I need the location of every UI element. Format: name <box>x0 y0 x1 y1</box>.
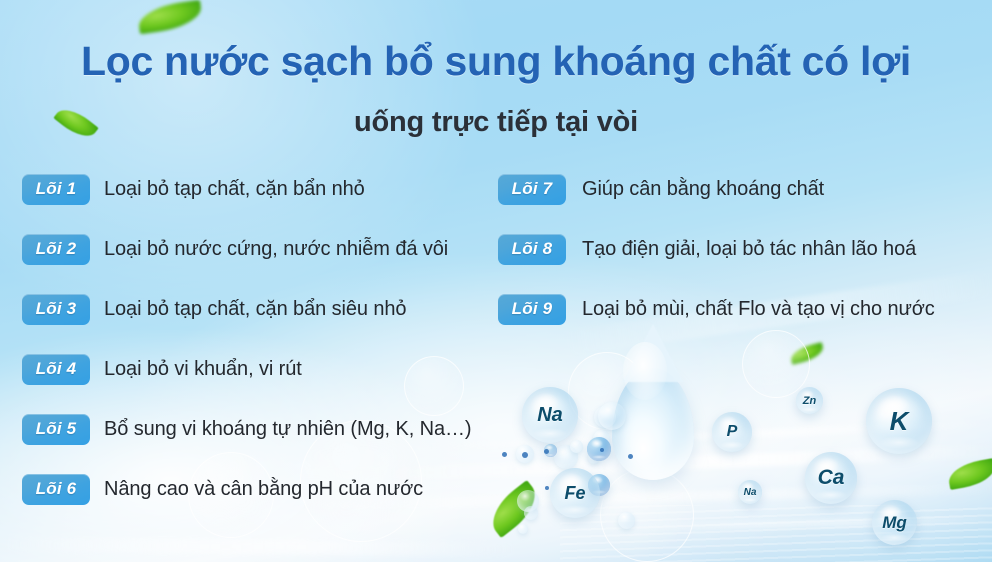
decorative-bubble <box>618 512 635 529</box>
feature-badge: Lõi 6 <box>22 474 90 505</box>
mineral-bubble: Ca <box>805 452 857 504</box>
decorative-bubble <box>594 406 616 428</box>
decorative-dot <box>545 486 549 490</box>
decorative-bubble <box>516 445 534 463</box>
feature-badge: Lõi 4 <box>22 354 90 385</box>
background-streak <box>620 516 992 531</box>
feature-label: Giúp cân bằng khoáng chất <box>582 178 824 201</box>
feature-label: Loại bỏ mùi, chất Flo và tạo vị cho nước <box>582 298 935 321</box>
feature-item[interactable]: Lõi 8Tạo điện giải, loại bỏ tác nhân lão… <box>498 232 978 266</box>
feature-item[interactable]: Lõi 2Loại bỏ nước cứng, nước nhiễm đá vô… <box>22 232 492 266</box>
decorative-dot <box>600 448 604 452</box>
feature-list-right: Lõi 7Giúp cân bằng khoáng chấtLõi 8Tạo đ… <box>498 172 978 352</box>
decorative-bubble <box>593 430 610 447</box>
mineral-label: Fe <box>564 483 585 504</box>
feature-badge: Lõi 8 <box>498 234 566 265</box>
mineral-bubble: Mg <box>872 500 917 545</box>
feature-badge: Lõi 3 <box>22 294 90 325</box>
feature-badge: Lõi 5 <box>22 414 90 445</box>
feature-label: Tạo điện giải, loại bỏ tác nhân lão hoá <box>582 238 916 261</box>
feature-label: Loại bỏ tạp chất, cặn bẩn siêu nhỏ <box>104 298 406 321</box>
feature-item[interactable]: Lõi 9Loại bỏ mùi, chất Flo và tạo vị cho… <box>498 292 978 326</box>
feature-label: Loại bỏ nước cứng, nước nhiễm đá vôi <box>104 238 448 261</box>
feature-list-left: Lõi 1Loại bỏ tạp chất, cặn bẩn nhỏLõi 2L… <box>22 172 492 532</box>
decorative-dot <box>544 449 549 454</box>
feature-item[interactable]: Lõi 4Loại bỏ vi khuẩn, vi rút <box>22 352 492 386</box>
decorative-bubble <box>568 352 646 430</box>
decorative-bubble <box>570 440 583 453</box>
decorative-dot <box>522 452 528 458</box>
decorative-bubble <box>598 402 626 430</box>
decorative-dot <box>628 454 633 459</box>
feature-label: Bổ sung vi khoáng tự nhiên (Mg, K, Na…) <box>104 418 471 441</box>
background-streak <box>430 420 990 450</box>
background-ripple-band <box>560 505 992 562</box>
feature-badge: Lõi 9 <box>498 294 566 325</box>
mineral-label: Na <box>537 404 563 427</box>
decorative-dot <box>502 452 507 457</box>
leaf-icon <box>483 480 546 538</box>
decorative-bubble <box>588 474 610 496</box>
feature-item[interactable]: Lõi 3Loại bỏ tạp chất, cặn bẩn siêu nhỏ <box>22 292 492 326</box>
decorative-bubble <box>587 437 611 461</box>
mineral-label: Mg <box>882 513 907 533</box>
background-streak <box>0 537 520 556</box>
feature-label: Loại bỏ vi khuẩn, vi rút <box>104 358 302 381</box>
decorative-bubble <box>518 524 528 534</box>
feature-label: Nâng cao và cân bằng pH của nước <box>104 478 423 501</box>
mineral-label: Na <box>744 487 757 498</box>
feature-item[interactable]: Lõi 7Giúp cân bằng khoáng chất <box>498 172 978 206</box>
poster-canvas: NaFePNaZnKCaMg Lọc nước sạch bổ sung kho… <box>0 0 992 562</box>
leaf-icon <box>946 458 992 490</box>
feature-badge: Lõi 2 <box>22 234 90 265</box>
mineral-label: P <box>727 423 738 441</box>
water-droplet-icon <box>612 368 694 480</box>
feature-item[interactable]: Lõi 6Nâng cao và cân bằng pH của nước <box>22 472 492 506</box>
decorative-bubble <box>588 452 600 464</box>
decorative-bubble <box>600 468 694 562</box>
mineral-bubble: Zn <box>796 387 823 414</box>
mineral-bubble: Na <box>522 387 578 443</box>
page-title: Lọc nước sạch bổ sung khoáng chất có lợi <box>0 38 992 85</box>
mineral-bubble: K <box>866 388 932 454</box>
feature-item[interactable]: Lõi 1Loại bỏ tạp chất, cặn bẩn nhỏ <box>22 172 492 206</box>
mineral-bubble: P <box>712 412 752 452</box>
feature-label: Loại bỏ tạp chất, cặn bẩn nhỏ <box>104 178 365 201</box>
mineral-label: Ca <box>818 466 845 490</box>
leaf-icon <box>137 0 204 34</box>
decorative-bubble <box>544 444 557 457</box>
mineral-bubble: Na <box>738 480 762 504</box>
feature-badge: Lõi 1 <box>22 174 90 205</box>
mineral-label: Zn <box>803 395 816 407</box>
feature-item[interactable]: Lõi 5Bổ sung vi khoáng tự nhiên (Mg, K, … <box>22 412 492 446</box>
decorative-bubble <box>554 445 578 469</box>
mineral-label: K <box>890 406 909 437</box>
page-subtitle: uống trực tiếp tại vòi <box>0 106 992 139</box>
feature-badge: Lõi 7 <box>498 174 566 205</box>
mineral-bubble: Fe <box>550 468 600 518</box>
